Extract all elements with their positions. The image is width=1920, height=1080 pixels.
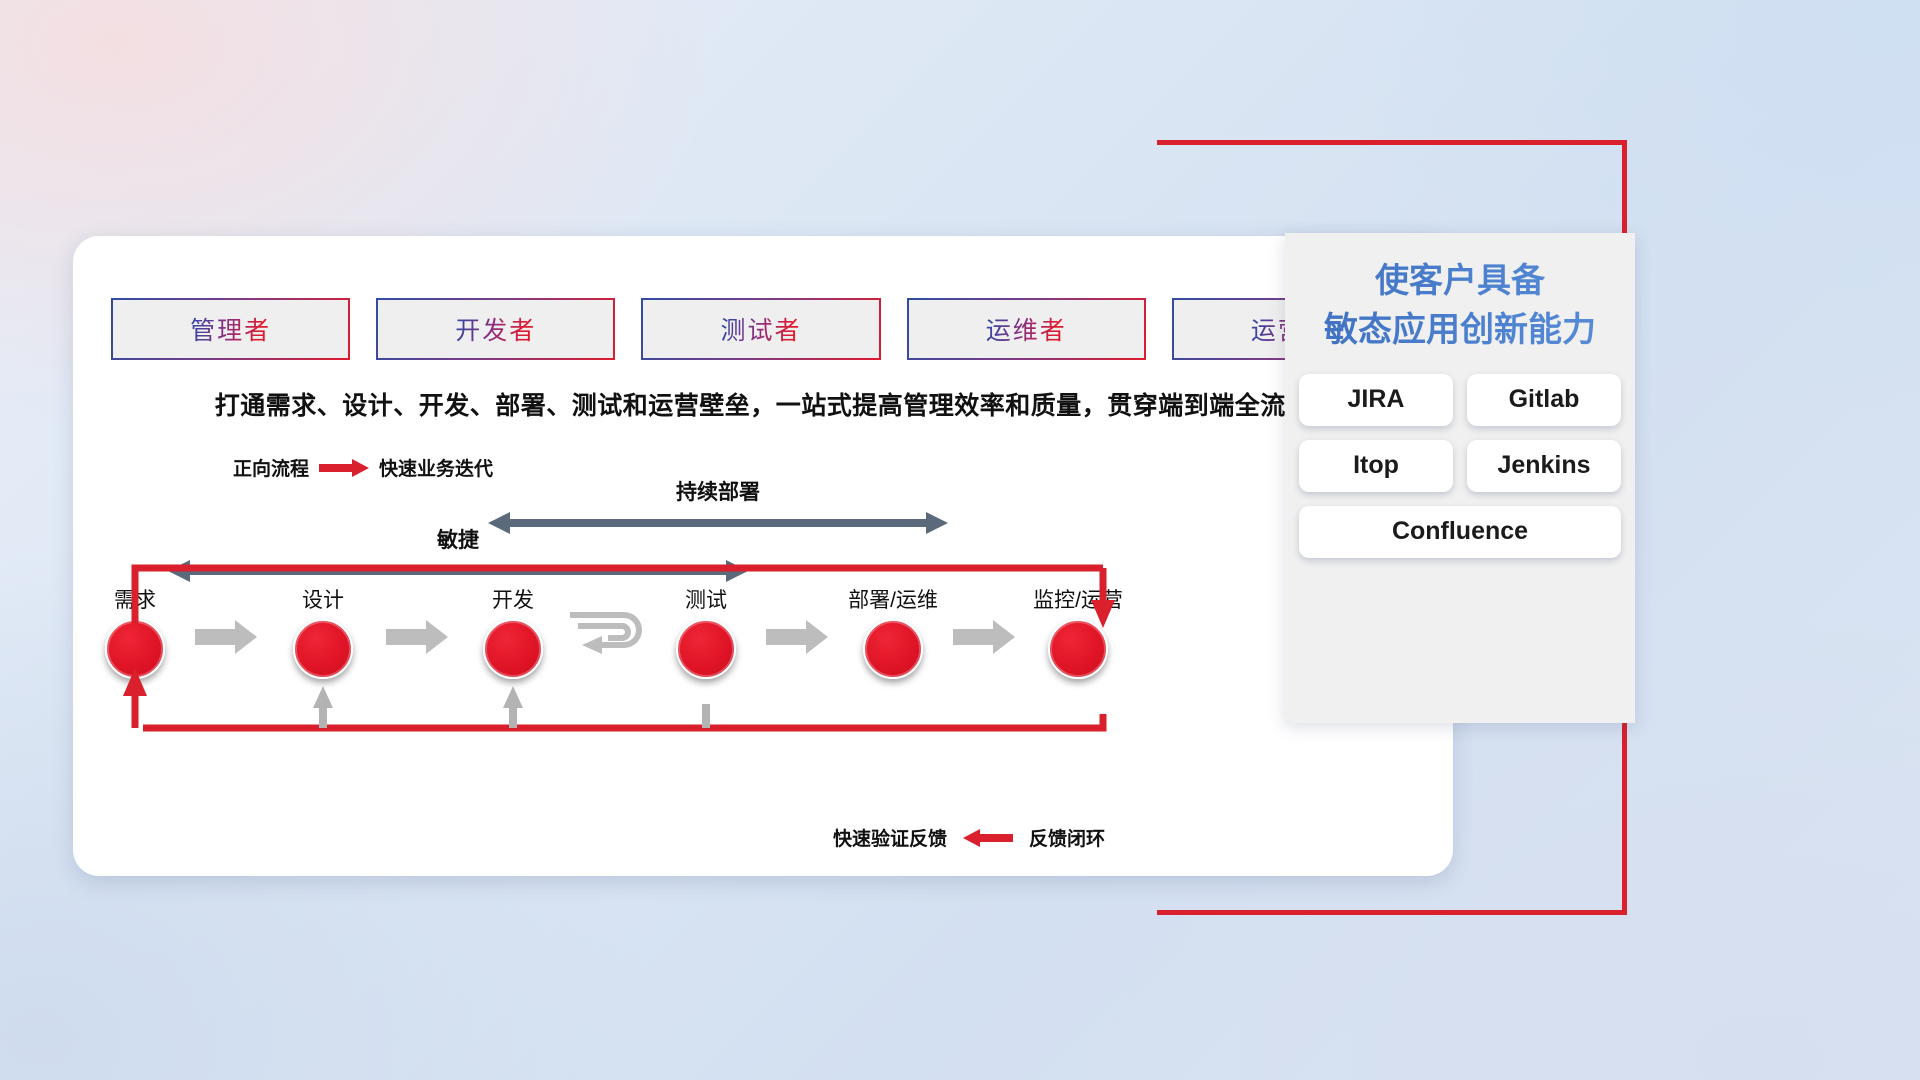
stage-dot: [676, 619, 736, 679]
pipeline-stage-development[interactable]: 开发: [438, 584, 588, 679]
pipeline: 需求 设计 开发 测试 部署/运维 监控/运营: [73, 584, 1453, 734]
tool-label: Confluence: [1392, 517, 1528, 546]
stage-label: 部署/运维: [818, 584, 968, 614]
red-bracket-stub-top: [1157, 140, 1287, 145]
double-arrow-gray-icon: [168, 558, 748, 584]
tool-chip-jira[interactable]: JIRA: [1299, 374, 1453, 426]
tool-label: Gitlab: [1509, 385, 1580, 414]
panel-title-line-1: 使客户具备: [1285, 257, 1635, 306]
role-label: 运维者: [986, 311, 1067, 347]
tool-label: Itop: [1353, 451, 1399, 480]
pipeline-stage-design[interactable]: 设计: [248, 584, 398, 679]
arrow-right-gray-icon: [953, 620, 1015, 654]
forward-flow-label-right: 快速业务迭代: [379, 454, 493, 481]
role-box-developer[interactable]: 开发者: [376, 298, 615, 360]
arrow-right-gray-icon: [386, 620, 448, 654]
role-box-manager[interactable]: 管理者: [111, 298, 350, 360]
arrow-left-red-icon: [963, 829, 1013, 847]
panel-title: 使客户具备 敏态应用创新能力: [1285, 257, 1635, 356]
role-box-operations-engineer[interactable]: 运维者: [907, 298, 1146, 360]
agile-label: 敏捷: [168, 524, 748, 554]
tool-chip-gitlab[interactable]: Gitlab: [1467, 374, 1621, 426]
stage-dot: [293, 619, 353, 679]
arrow-right-red-icon: [319, 459, 369, 477]
role-box-tester[interactable]: 测试者: [641, 298, 880, 360]
tool-chip-jenkins[interactable]: Jenkins: [1467, 440, 1621, 492]
feedback-label-left: 快速验证反馈: [833, 824, 947, 851]
loop-back-gray-icon: [568, 612, 654, 660]
arrow-right-gray-icon: [766, 620, 828, 654]
stage-dot: [105, 619, 165, 679]
tool-list: JIRA Gitlab Itop Jenkins Confluence: [1299, 374, 1621, 558]
arrow-right-gray-icon: [195, 620, 257, 654]
stage-dot: [483, 619, 543, 679]
role-label: 管理者: [190, 311, 271, 347]
pipeline-stage-requirements[interactable]: 需求: [60, 584, 210, 679]
tool-label: Jenkins: [1497, 451, 1590, 480]
pipeline-stage-deploy-ops[interactable]: 部署/运维: [818, 584, 968, 679]
description-text: 打通需求、设计、开发、部署、测试和运营壁垒，一站式提高管理效率和质量，贯穿端到端…: [73, 386, 1453, 422]
red-bracket-stub-bottom: [1157, 910, 1287, 915]
pipeline-stage-monitor-operate[interactable]: 监控/运营: [1003, 584, 1153, 679]
role-box-row: 管理者 开发者 测试者 运维者 运营者: [111, 298, 1411, 360]
role-label: 开发者: [455, 311, 536, 347]
feedback-loop-legend: 快速验证反馈 反馈闭环: [833, 824, 1105, 851]
stage-label: 设计: [248, 584, 398, 614]
stage-label: 需求: [60, 584, 210, 614]
feedback-label-right: 反馈闭环: [1029, 824, 1105, 851]
continuous-deployment-label: 持续部署: [488, 476, 948, 506]
tool-chip-confluence[interactable]: Confluence: [1299, 506, 1621, 558]
forward-flow-legend: 正向流程 快速业务迭代: [233, 454, 493, 481]
stage-label: 测试: [631, 584, 781, 614]
stage-dot: [863, 619, 923, 679]
forward-flow-label-left: 正向流程: [233, 454, 309, 481]
stage-dot: [1048, 619, 1108, 679]
panel-title-line-2: 敏态应用创新能力: [1285, 306, 1635, 355]
tool-chip-itop[interactable]: Itop: [1299, 440, 1453, 492]
value-proposition-panel: 使客户具备 敏态应用创新能力 JIRA Gitlab Itop Jenkins …: [1285, 233, 1635, 723]
role-label: 测试者: [721, 311, 802, 347]
stage-label: 开发: [438, 584, 588, 614]
devops-flow-card: 管理者 开发者 测试者 运维者 运营者 打通需求、设计、开发、部署、测试和运营壁…: [73, 236, 1453, 876]
stage-label: 监控/运营: [1003, 584, 1153, 614]
tool-label: JIRA: [1348, 385, 1405, 414]
agile-span: 敏捷: [168, 524, 748, 584]
